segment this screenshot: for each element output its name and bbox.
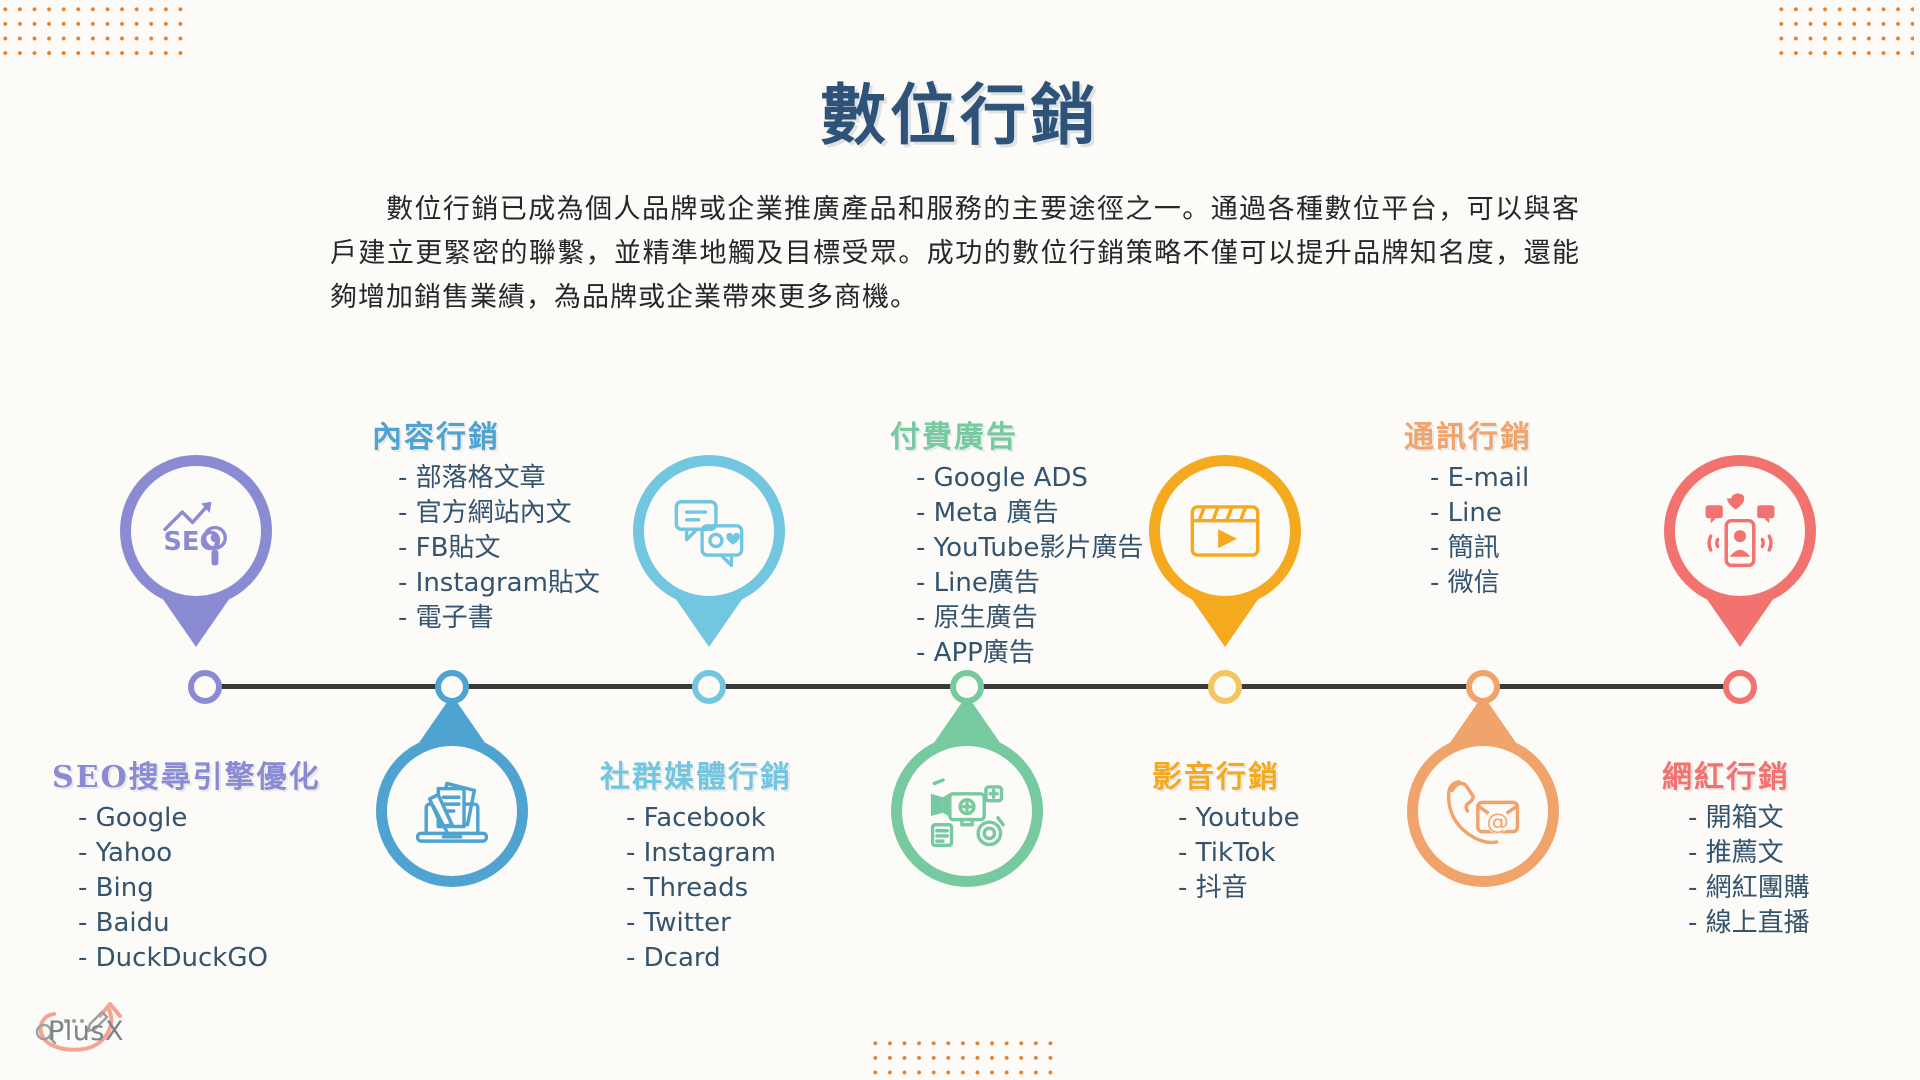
section-list-paid: Google ADSMeta 廣告YouTube影片廣告Line廣告原生廣告AP… <box>890 461 1143 671</box>
pin-social[interactable] <box>633 455 785 607</box>
dot-pattern-top-right <box>1774 2 1914 64</box>
section-list-seo: GoogleYahooBingBaiduDuckDuckGO <box>52 801 321 976</box>
list-item: Google ADS <box>916 461 1143 496</box>
dot-pattern-top-left <box>0 2 188 64</box>
section-heading-paid: 付費廣告 <box>890 412 1143 456</box>
list-item: Dcard <box>626 941 792 976</box>
list-item: Baidu <box>78 906 321 941</box>
pin-influencer[interactable] <box>1664 455 1816 607</box>
section-list-influencer: 開箱文推薦文網紅團購線上直播 <box>1662 801 1810 941</box>
document-laptop-pencil-icon <box>376 735 528 887</box>
section-heading-content: 內容行銷 <box>372 412 600 456</box>
list-item: TikTok <box>1178 836 1300 871</box>
svg-text:@: @ <box>1486 809 1508 835</box>
list-item: E-mail <box>1430 461 1532 496</box>
list-item: Instagram <box>626 836 792 871</box>
timeline-node-paid[interactable] <box>950 670 984 704</box>
list-item: APP廣告 <box>916 636 1143 671</box>
section-heading-influencer: 網紅行銷 <box>1662 752 1810 796</box>
timeline-node-video[interactable] <box>1208 670 1242 704</box>
video-player-clapboard-icon <box>1149 455 1301 607</box>
timeline-node-content[interactable] <box>435 670 469 704</box>
section-list-messaging: E-mailLine簡訊微信 <box>1404 461 1532 601</box>
section-list-video: YoutubeTikTok抖音 <box>1152 801 1300 906</box>
infographic-canvas: 數位行銷 數位行銷已成為個人品牌或企業推廣產品和服務的主要途徑之一。通過各種數位… <box>0 0 1920 1080</box>
list-item: 簡訊 <box>1430 531 1532 566</box>
section-messaging: 通訊行銷E-mailLine簡訊微信 <box>1404 412 1532 601</box>
list-item: 開箱文 <box>1688 801 1810 836</box>
list-item: Yahoo <box>78 836 321 871</box>
list-item: 網紅團購 <box>1688 871 1810 906</box>
list-item: Google <box>78 801 321 836</box>
intro-paragraph: 數位行銷已成為個人品牌或企業推廣產品和服務的主要途徑之一。通過各種數位平台，可以… <box>330 188 1580 320</box>
list-item: 線上直播 <box>1688 906 1810 941</box>
list-item: Facebook <box>626 801 792 836</box>
list-item: Line <box>1430 496 1532 531</box>
timeline-node-messaging[interactable] <box>1466 670 1500 704</box>
list-item: Threads <box>626 871 792 906</box>
section-heading-social: 社群媒體行銷 <box>600 752 792 796</box>
section-list-social: FacebookInstagramThreadsTwitterDcard <box>600 801 792 976</box>
section-social: 社群媒體行銷FacebookInstagramThreadsTwitterDca… <box>600 752 792 976</box>
section-paid: 付費廣告Google ADSMeta 廣告YouTube影片廣告Line廣告原生… <box>890 412 1143 671</box>
list-item: Line廣告 <box>916 566 1143 601</box>
pin-video[interactable] <box>1149 455 1301 607</box>
section-heading-video: 影音行銷 <box>1152 752 1300 796</box>
influencer-phone-hearts-icon <box>1664 455 1816 607</box>
list-item: 推薦文 <box>1688 836 1810 871</box>
logo-label: PlusX <box>48 1016 124 1047</box>
pin-content[interactable] <box>376 735 528 887</box>
pin-seo[interactable]: SEO <box>120 455 272 607</box>
dot-pattern-bottom <box>868 1036 1058 1076</box>
timeline-node-seo[interactable] <box>188 670 222 704</box>
megaphone-monitor-ads-icon <box>891 735 1043 887</box>
section-content: 內容行銷部落格文章官方網站內文FB貼文Instagram貼文電子書 <box>372 412 600 636</box>
list-item: Instagram貼文 <box>398 566 600 601</box>
list-item: Youtube <box>1178 801 1300 836</box>
list-item: FB貼文 <box>398 531 600 566</box>
phone-email-at-icon: @ <box>1407 735 1559 887</box>
timeline-node-influencer[interactable] <box>1723 670 1757 704</box>
section-list-content: 部落格文章官方網站內文FB貼文Instagram貼文電子書 <box>372 461 600 636</box>
chat-bubbles-icon <box>633 455 785 607</box>
pin-paid[interactable] <box>891 735 1043 887</box>
section-influencer: 網紅行銷開箱文推薦文網紅團購線上直播 <box>1662 752 1810 941</box>
list-item: 微信 <box>1430 566 1532 601</box>
seo-growth-chart-icon: SEO <box>120 455 272 607</box>
list-item: 電子書 <box>398 601 600 636</box>
section-video: 影音行銷YoutubeTikTok抖音 <box>1152 752 1300 906</box>
list-item: YouTube影片廣告 <box>916 531 1143 566</box>
section-heading-seo: SEO搜尋引擎優化 <box>52 752 321 796</box>
timeline-node-social[interactable] <box>692 670 726 704</box>
list-item: Bing <box>78 871 321 906</box>
pin-messaging[interactable]: @ <box>1407 735 1559 887</box>
list-item: Twitter <box>626 906 792 941</box>
section-heading-messaging: 通訊行銷 <box>1404 412 1532 456</box>
section-seo: SEO搜尋引擎優化GoogleYahooBingBaiduDuckDuckGO <box>52 752 321 976</box>
list-item: 部落格文章 <box>398 461 600 496</box>
list-item: 抖音 <box>1178 871 1300 906</box>
page-title: 數位行銷 <box>0 62 1920 158</box>
list-item: 官方網站內文 <box>398 496 600 531</box>
list-item: DuckDuckGO <box>78 941 321 976</box>
list-item: 原生廣告 <box>916 601 1143 636</box>
list-item: Meta 廣告 <box>916 496 1143 531</box>
